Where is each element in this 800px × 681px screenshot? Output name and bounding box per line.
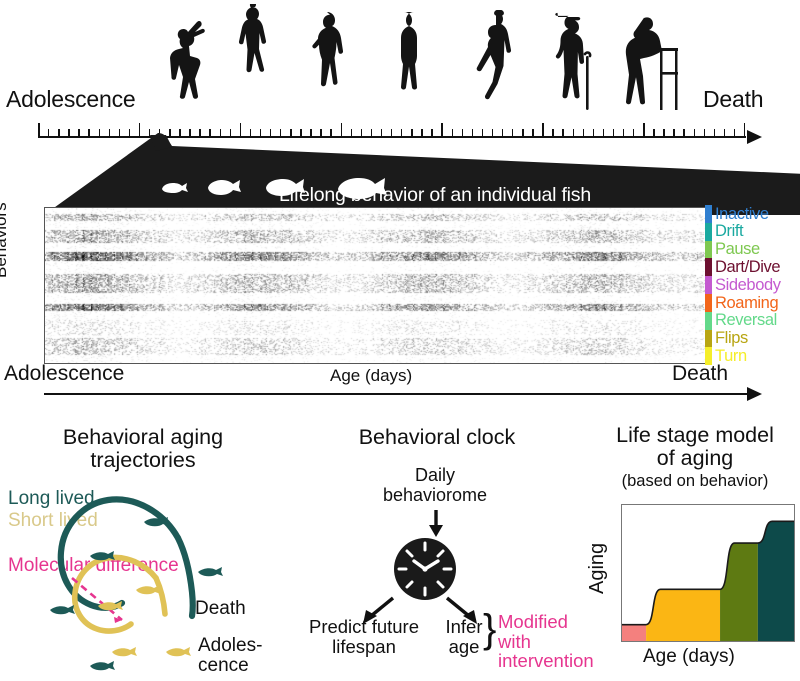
life-stage-chart: [621, 504, 795, 642]
panel-life-stage-model: Life stage modelof aging (based on behav…: [588, 424, 800, 681]
behavior-heatmap: [44, 207, 706, 364]
human-silhouette-2: [228, 4, 274, 108]
legend-swatch-icon: [705, 294, 712, 312]
legend-item-turn[interactable]: Turn: [705, 347, 800, 365]
trajectories-death-label: Death: [195, 598, 246, 620]
legend-label: Sidebody: [712, 277, 781, 294]
human-silhouette-5: [464, 10, 518, 112]
heatmap-canvas: [45, 208, 705, 363]
legend-swatch-icon: [705, 258, 712, 276]
human-silhouette-1: [160, 16, 218, 106]
legend-label: Reversal: [712, 312, 777, 329]
life-stage-title: Life stage modelof aging: [594, 424, 796, 470]
zoom-wedge: Lifelong behavior of an individual fish: [0, 133, 800, 215]
clock-icon: [393, 537, 457, 601]
panel-behavioral-aging-trajectories: Behavioral agingtrajectories Long lived …: [2, 424, 282, 681]
panel-behavioral-clock: Behavioral clock Dailybehaviorome: [283, 424, 588, 681]
life-stage-subtitle: (based on behavior): [594, 472, 796, 491]
legend-swatch-icon: [705, 205, 712, 223]
behavior-legend: InactiveDriftPauseDart/DiveSidebodyRoami…: [705, 205, 800, 365]
legend-label: Inactive: [712, 206, 769, 223]
trajectories-adolescence-label: Adoles-cence: [198, 636, 262, 676]
legend-label: Turn: [712, 348, 747, 365]
legend-item-drift[interactable]: Drift: [705, 223, 800, 241]
life-stage-3: [720, 543, 758, 641]
legend-label: Pause: [712, 241, 760, 258]
legend-swatch-icon: [705, 223, 712, 241]
human-silhouette-7: [620, 14, 682, 114]
legend-label: Drift: [712, 223, 743, 240]
legend-label: Flips: [712, 330, 748, 347]
life-stage-y-axis-label: Aging: [590, 528, 612, 618]
legend-item-pause[interactable]: Pause: [705, 241, 800, 259]
legend-item-dart-dive[interactable]: Dart/Dive: [705, 258, 800, 276]
clock-title: Behavioral clock: [297, 426, 577, 449]
daily-behaviorome-label: Dailybehaviorome: [335, 466, 535, 506]
legend-swatch-icon: [705, 312, 712, 330]
timeline-end-label: Death: [703, 86, 763, 113]
legend-item-flips[interactable]: Flips: [705, 330, 800, 348]
heatmap-axis-line: [44, 393, 747, 395]
life-stage-1: [622, 625, 646, 641]
modified-with-intervention-label: Modifiedwithintervention: [498, 612, 593, 671]
heatmap-y-axis-label: Behaviors: [13, 232, 33, 342]
figure-root: Adolescence Death Lifelong behavior of a…: [0, 0, 800, 681]
legend-swatch-icon: [705, 276, 712, 294]
heatmap-x-axis: [44, 386, 762, 404]
life-stage-2: [646, 589, 720, 641]
predict-lifespan-label: Predict futurelifespan: [289, 617, 439, 657]
human-silhouette-3: [300, 10, 350, 110]
human-silhouette-6: [545, 10, 597, 114]
timeline-start-label: Adolescence: [6, 86, 136, 113]
legend-item-inactive[interactable]: Inactive: [705, 205, 800, 223]
life-stage-x-axis-label: Age (days): [643, 646, 735, 668]
arrow-down-icon: [425, 510, 447, 538]
legend-item-roaming[interactable]: Roaming: [705, 294, 800, 312]
brace-icon: }: [483, 609, 496, 649]
wedge-caption: Lifelong behavior of an individual fish: [155, 184, 715, 207]
heatmap-x-end-label: Death: [672, 362, 728, 386]
heatmap-x-axis-label: Age (days): [330, 366, 412, 386]
legend-swatch-icon: [705, 330, 712, 348]
legend-label: Roaming: [712, 295, 778, 312]
heatmap-axis-arrow-icon: [747, 387, 762, 401]
legend-item-reversal[interactable]: Reversal: [705, 312, 800, 330]
legend-swatch-icon: [705, 241, 712, 259]
legend-item-sidebody[interactable]: Sidebody: [705, 276, 800, 294]
heatmap-x-start-label: Adolescence: [4, 362, 124, 386]
legend-swatch-icon: [705, 347, 712, 365]
legend-label: Dart/Dive: [712, 259, 780, 276]
human-silhouette-4: [382, 10, 424, 110]
